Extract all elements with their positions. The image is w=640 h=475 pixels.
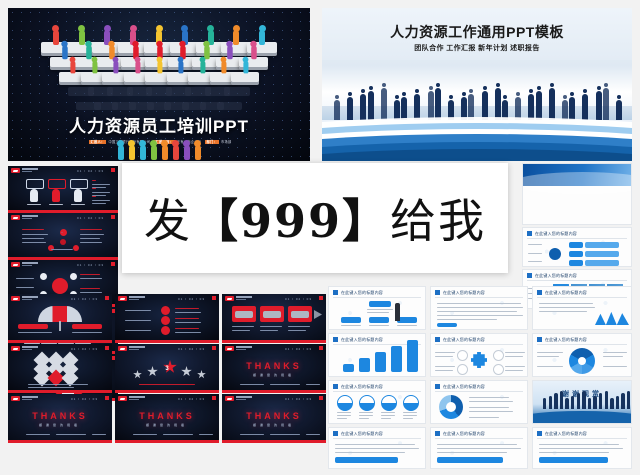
slide-header-title: 在此键入您的标题内容 bbox=[545, 290, 587, 296]
text-line bbox=[16, 287, 34, 288]
thanks-subtitle: 感谢您的观看 bbox=[8, 423, 112, 427]
thanks-title: THANKS感谢您的观看 bbox=[8, 411, 112, 427]
label-chip[interactable] bbox=[569, 242, 583, 248]
dark-slide-thumbnail[interactable]: 01 / 02 / 033 bbox=[115, 344, 219, 390]
org-node[interactable] bbox=[341, 317, 361, 323]
content-bar[interactable] bbox=[335, 457, 398, 463]
light-slide-thumbnail[interactable]: 在此键入您的标题内容 bbox=[328, 427, 426, 469]
text-line bbox=[92, 203, 106, 204]
wave-band bbox=[322, 149, 632, 161]
nav-square-icon[interactable] bbox=[105, 396, 109, 400]
header-title-line bbox=[236, 296, 252, 298]
text-line bbox=[539, 307, 595, 308]
slide-nav-indicator[interactable]: 01 / 02 / 03 bbox=[71, 397, 98, 401]
light-slide-thumbnail[interactable]: 在此键入您的标题内容 bbox=[532, 427, 632, 469]
label-pill[interactable] bbox=[18, 324, 48, 329]
content-bar[interactable] bbox=[585, 251, 619, 257]
slide-header-title: 在此键入您的标题内容 bbox=[535, 231, 577, 237]
hero-right-subtitle: 团队合作 工作汇报 新年计划 述职报告 bbox=[322, 43, 632, 53]
slide-separator-bar bbox=[8, 340, 112, 343]
hero-slide-employee-training[interactable]: 人力资源员工培训PPT 汇报人：中国工商银行股份有限公司 汇报时间：天有工商企业… bbox=[8, 8, 310, 161]
text-line bbox=[537, 356, 559, 357]
text-line bbox=[437, 319, 497, 320]
phase-inner bbox=[291, 311, 309, 318]
person-figure-icon bbox=[113, 57, 119, 74]
person-figure-icon bbox=[233, 25, 240, 45]
light-slide-thumbnail[interactable]: 谢谢观赏 bbox=[532, 380, 632, 424]
text-line bbox=[175, 322, 201, 323]
text-line bbox=[469, 411, 513, 412]
text-line bbox=[92, 184, 110, 185]
slide-nav-indicator[interactable]: 01 / 02 / 03 bbox=[71, 297, 98, 301]
slide-header-title: 在此键入您的标题内容 bbox=[341, 290, 383, 296]
dark-slide-thumbnail[interactable]: 01 / 02 / 03THANKS感谢您的观看 bbox=[222, 394, 326, 440]
slide-nav-indicator[interactable]: 01 / 02 / 03 bbox=[77, 216, 104, 220]
deck-logo-icon bbox=[11, 396, 20, 401]
text-line bbox=[92, 196, 96, 197]
slide-header: 在此键入您的标题内容 bbox=[533, 334, 631, 344]
text-line bbox=[337, 418, 347, 419]
person-silhouette bbox=[616, 396, 619, 410]
text-line bbox=[80, 278, 102, 279]
person-figure-icon bbox=[172, 140, 179, 160]
wave-band bbox=[532, 411, 632, 424]
text-line bbox=[539, 303, 593, 304]
text-line bbox=[80, 288, 100, 289]
person-silhouette bbox=[599, 393, 602, 409]
thanks-subtitle: 感谢您的观看 bbox=[115, 423, 219, 427]
text-line bbox=[56, 434, 86, 435]
deck-logo-icon bbox=[118, 296, 127, 301]
light-slide-thumbnail[interactable]: 在此键入您的标题内容 bbox=[328, 380, 426, 424]
text-line bbox=[260, 326, 282, 327]
text-line bbox=[437, 452, 507, 453]
nav-square-icon[interactable] bbox=[212, 296, 216, 300]
text-line bbox=[539, 311, 587, 312]
dark-slide-thumbnail[interactable]: 01 / 02 / 03 bbox=[8, 166, 118, 210]
text-line bbox=[539, 448, 623, 449]
promo-overlay-banner[interactable]: 发【999】给我 bbox=[122, 163, 508, 273]
text-line bbox=[537, 366, 563, 367]
slide-separator-bar bbox=[115, 390, 219, 393]
slide-separator-bar bbox=[222, 440, 326, 443]
thanks-title: THANKS感谢您的观看 bbox=[222, 411, 326, 427]
text-line bbox=[367, 309, 393, 310]
person-silhouette bbox=[593, 396, 596, 410]
accent-chip bbox=[437, 323, 457, 327]
slide-nav-indicator[interactable]: 01 / 02 / 03 bbox=[178, 347, 205, 351]
puzzle-piece bbox=[224, 87, 250, 96]
text-line bbox=[341, 325, 361, 326]
hero-left-figure-row bbox=[8, 140, 310, 161]
text-line bbox=[335, 452, 405, 453]
text-line bbox=[505, 366, 525, 367]
nav-square-icon[interactable] bbox=[111, 168, 115, 172]
umbrella-icon bbox=[38, 306, 82, 322]
org-node[interactable] bbox=[369, 317, 389, 323]
slide-header: 在此键入您的标题内容 bbox=[329, 287, 425, 297]
slide-header-title: 在此键入您的标题内容 bbox=[443, 384, 485, 390]
person-figure-icon bbox=[250, 41, 256, 59]
text-line bbox=[306, 434, 320, 435]
bar-column bbox=[407, 340, 418, 372]
slide-header-title: 在此键入您的标题内容 bbox=[341, 384, 383, 390]
bullet-square-icon bbox=[435, 337, 440, 342]
dark-slide-thumbnail[interactable]: 01 / 02 / 03 bbox=[8, 344, 112, 390]
bullet-square-icon bbox=[333, 431, 338, 436]
slide-separator-bar bbox=[222, 390, 326, 393]
slide-nav-indicator[interactable]: 01 / 02 / 03 bbox=[71, 347, 98, 351]
text-line bbox=[175, 312, 201, 313]
node-circle bbox=[457, 364, 468, 375]
header-sub-line bbox=[22, 349, 32, 350]
deck-logo-icon bbox=[11, 296, 20, 301]
nav-square-icon[interactable] bbox=[105, 296, 109, 300]
slide-separator-bar bbox=[8, 390, 112, 393]
hero-left-title: 人力资源员工培训PPT bbox=[8, 112, 310, 137]
person-silhouette bbox=[621, 393, 624, 409]
slide-header-title: 在此键入您的标题内容 bbox=[545, 431, 587, 437]
blue-header-band bbox=[523, 164, 631, 186]
text-line bbox=[469, 407, 509, 408]
slide-separator-bar bbox=[115, 440, 219, 443]
node-circle bbox=[493, 350, 504, 361]
person-figure-icon bbox=[259, 25, 266, 45]
person-figure-icon bbox=[199, 57, 205, 74]
gauge-icon bbox=[403, 395, 419, 411]
person-figure-icon bbox=[150, 140, 157, 160]
text-line bbox=[603, 366, 627, 367]
bar-column bbox=[359, 358, 370, 372]
person-figure-icon bbox=[85, 41, 91, 59]
header-sub-line bbox=[22, 299, 32, 300]
text-line bbox=[270, 434, 300, 435]
header-title-line bbox=[22, 168, 38, 170]
donut-hole bbox=[446, 402, 456, 412]
text-line bbox=[359, 415, 373, 416]
slide-header: 在此键入您的标题内容 bbox=[523, 270, 631, 280]
header-title-line bbox=[129, 296, 145, 298]
slide-header: 在此键入您的标题内容 bbox=[329, 428, 425, 438]
node-circle bbox=[73, 245, 79, 251]
slide-nav-indicator[interactable]: 01 / 02 / 03 bbox=[285, 297, 312, 301]
light-slide-thumbnail[interactable]: 在此键入您的标题内容 bbox=[430, 333, 528, 377]
light-slide-thumbnail[interactable]: 在此键入您的标题内容 bbox=[328, 333, 426, 377]
battery-icon bbox=[48, 179, 66, 189]
text-line bbox=[403, 418, 413, 419]
text-line bbox=[28, 387, 74, 388]
bullet-square-icon bbox=[333, 384, 338, 389]
text-line bbox=[528, 261, 542, 262]
text-line bbox=[16, 278, 34, 279]
text-line bbox=[163, 434, 193, 435]
header-title-line bbox=[129, 396, 145, 398]
text-line bbox=[381, 415, 395, 416]
header-divider bbox=[537, 438, 627, 439]
person-silhouette bbox=[588, 398, 591, 409]
triangle-outline bbox=[51, 232, 73, 250]
text-line bbox=[175, 308, 199, 309]
hero-right-title: 人力资源工作通用PPT模板 bbox=[322, 22, 632, 42]
text-line bbox=[270, 384, 300, 385]
text-line bbox=[175, 318, 199, 319]
light-slide-thumbnail[interactable]: 在此键入您的标题内容 bbox=[532, 333, 632, 377]
person-figure-icon bbox=[161, 140, 168, 160]
overlay-text-a: 发 bbox=[144, 194, 192, 248]
light-slide-thumbnail[interactable]: 在此键入您的标题内容 bbox=[430, 286, 528, 330]
overlay-text-b: 【999】 bbox=[192, 194, 390, 248]
text-line bbox=[72, 332, 102, 333]
text-line bbox=[288, 330, 306, 331]
slide-header-title: 在此键入您的标题内容 bbox=[443, 337, 485, 343]
header-title-line bbox=[236, 396, 252, 398]
umbrella-pole bbox=[59, 321, 61, 331]
slide-separator-bar bbox=[222, 340, 326, 343]
slide-header: 在此键入您的标题内容 bbox=[329, 381, 425, 391]
deck-logo-icon bbox=[225, 346, 234, 351]
text-line bbox=[125, 320, 151, 321]
text-line bbox=[437, 444, 517, 445]
person-silhouette bbox=[554, 393, 557, 409]
deck-logo-icon bbox=[11, 262, 20, 267]
person-silhouette bbox=[571, 396, 574, 410]
header-divider bbox=[537, 297, 627, 298]
header-sub-line bbox=[129, 399, 139, 400]
header-sub-line bbox=[236, 349, 246, 350]
slide-header: 在此键入您的标题内容 bbox=[431, 381, 527, 391]
header-divider bbox=[435, 344, 523, 345]
deck-logo-icon bbox=[225, 396, 234, 401]
text-line bbox=[381, 418, 391, 419]
text-line bbox=[240, 384, 264, 385]
text-line bbox=[603, 352, 627, 353]
person-silhouette bbox=[560, 391, 563, 410]
bullet-square-icon bbox=[435, 431, 440, 436]
text-line bbox=[22, 234, 48, 235]
text-line bbox=[537, 352, 563, 353]
nav-square-icon[interactable] bbox=[319, 346, 323, 350]
puzzle-piece bbox=[231, 72, 258, 82]
screenshot-canvas: 人力资源员工培训PPT 汇报人：中国工商银行股份有限公司 汇报时间：天有工商企业… bbox=[0, 0, 640, 475]
person-silhouette bbox=[605, 391, 608, 410]
slide-nav-indicator[interactable]: 01 / 02 / 03 bbox=[77, 169, 104, 173]
dark-slide-thumbnail[interactable]: 01 / 02 / 03 bbox=[115, 294, 219, 340]
battery-icon bbox=[26, 179, 44, 189]
person-figure-icon bbox=[194, 140, 201, 160]
slide-header: 在此键入您的标题内容 bbox=[523, 228, 631, 238]
content-bar[interactable] bbox=[585, 260, 619, 266]
text-line bbox=[175, 328, 199, 329]
text-line bbox=[403, 412, 417, 413]
nav-square-icon[interactable] bbox=[105, 346, 109, 350]
text-line bbox=[240, 434, 264, 435]
person-figure-icon bbox=[183, 140, 190, 160]
overlay-text-c: 给我 bbox=[390, 194, 486, 248]
battery-icon bbox=[70, 179, 88, 189]
dark-slide-thumbnail[interactable]: 01 / 02 / 03 bbox=[222, 294, 326, 340]
label-chip[interactable] bbox=[569, 251, 583, 257]
nav-square-icon[interactable] bbox=[319, 296, 323, 300]
person-silhouette bbox=[549, 396, 552, 410]
text-line bbox=[337, 412, 351, 413]
person-figure-icon bbox=[156, 57, 162, 74]
header-title-line bbox=[22, 296, 38, 298]
text-line bbox=[437, 311, 517, 312]
person-figure-icon bbox=[135, 57, 141, 74]
header-divider bbox=[435, 297, 523, 298]
light-slide-thumbnail[interactable]: 在此键入您的标题内容 bbox=[430, 380, 528, 424]
header-divider bbox=[435, 391, 523, 392]
person-silhouette bbox=[610, 398, 613, 409]
dark-slide-thumbnail[interactable]: 01 / 02 / 03THANKS感谢您的观看 bbox=[222, 344, 326, 390]
slide-nav-indicator[interactable]: 01 / 02 / 03 bbox=[178, 397, 205, 401]
slide-nav-indicator[interactable]: 01 / 02 / 03 bbox=[285, 347, 312, 351]
text-line bbox=[199, 434, 213, 435]
text-line bbox=[80, 238, 100, 239]
text-line bbox=[306, 384, 320, 385]
arrow-right-icon bbox=[314, 310, 322, 319]
badge-icon bbox=[161, 326, 170, 335]
org-node[interactable] bbox=[397, 317, 417, 323]
header-sub-line bbox=[22, 171, 32, 172]
text-line bbox=[26, 434, 50, 435]
text-line bbox=[335, 444, 415, 445]
text-line bbox=[505, 370, 523, 371]
thanks-title: THANKS感谢您的观看 bbox=[222, 361, 326, 377]
bullet-square-icon bbox=[527, 273, 532, 278]
person-figure-icon bbox=[221, 57, 227, 74]
dark-slide-thumbnail[interactable]: 01 / 02 / 03THANKS感谢您的观看 bbox=[115, 394, 219, 440]
label-chip[interactable] bbox=[569, 260, 583, 266]
text-line bbox=[28, 384, 88, 385]
slide-header-title: 在此键入您的标题内容 bbox=[535, 273, 577, 279]
slide-nav-indicator[interactable]: 01 / 02 / 03 bbox=[285, 397, 312, 401]
header-sub-line bbox=[22, 265, 32, 266]
text-line bbox=[528, 253, 542, 254]
text-line bbox=[435, 366, 455, 367]
text-line bbox=[359, 412, 373, 413]
light-slide-thumbnail[interactable]: 在此键入您的标题内容 bbox=[328, 286, 426, 330]
text-line bbox=[232, 326, 254, 327]
header-sub-line bbox=[22, 399, 32, 400]
node-circle bbox=[493, 364, 504, 375]
text-line bbox=[92, 434, 106, 435]
overlay-text: 发【999】给我 bbox=[144, 185, 486, 251]
dark-slide-thumbnail[interactable]: 01 / 02 / 03THANKS感谢您的观看 bbox=[8, 394, 112, 440]
slide-header: 在此键入您的标题内容 bbox=[431, 428, 527, 438]
text-line bbox=[288, 326, 310, 327]
text-line bbox=[92, 180, 96, 181]
center-number: 3 bbox=[115, 366, 219, 372]
slide-header: 在此键入您的标题内容 bbox=[533, 428, 631, 438]
org-node[interactable] bbox=[369, 301, 391, 307]
deck-logo-icon bbox=[118, 396, 127, 401]
light-slide-thumbnail[interactable]: 在此键入您的标题内容 bbox=[522, 227, 632, 267]
slide-header: 在此键入您的标题内容 bbox=[431, 287, 527, 297]
content-bar[interactable] bbox=[539, 457, 608, 463]
text-line bbox=[27, 204, 41, 205]
nav-square-icon[interactable] bbox=[212, 346, 216, 350]
header-divider bbox=[537, 344, 627, 345]
dark-slide-thumbnail[interactable]: 01 / 02 / 03 bbox=[8, 213, 118, 257]
person-figure-icon bbox=[117, 140, 124, 160]
text-line bbox=[175, 332, 201, 333]
slide-nav-indicator[interactable]: 01 / 02 / 03 bbox=[178, 297, 205, 301]
text-line bbox=[22, 229, 44, 230]
header-title-line bbox=[129, 346, 145, 348]
slide-header: 在此键入您的标题内容 bbox=[431, 334, 527, 344]
header-title-line bbox=[22, 346, 38, 348]
thanks-subtitle: 感谢您的观看 bbox=[222, 423, 326, 427]
nav-square-icon[interactable] bbox=[111, 215, 115, 219]
text-line bbox=[359, 418, 369, 419]
person-figure-icon bbox=[78, 25, 85, 45]
slide-separator-bar bbox=[8, 440, 112, 443]
slide-nav-indicator[interactable]: 01 / 02 / 03 bbox=[77, 263, 104, 267]
text-line bbox=[505, 356, 523, 357]
text-line bbox=[71, 204, 85, 205]
deck-logo-icon bbox=[11, 346, 20, 351]
header-divider bbox=[333, 391, 421, 392]
bullet-square-icon bbox=[537, 290, 542, 295]
light-slide-thumbnail[interactable]: 在此键入您的标题内容 bbox=[532, 286, 632, 330]
person-figure-icon bbox=[139, 140, 146, 160]
text-line bbox=[437, 448, 521, 449]
text-line bbox=[435, 352, 455, 353]
label-pill[interactable] bbox=[72, 324, 102, 329]
phase-inner bbox=[263, 311, 281, 318]
bar-column bbox=[375, 352, 386, 372]
slide-header-title: 在此键入您的标题内容 bbox=[443, 290, 485, 296]
text-line bbox=[22, 238, 44, 239]
header-title-line bbox=[236, 346, 252, 348]
person-figure-icon bbox=[74, 189, 82, 202]
hub-circle bbox=[549, 248, 561, 260]
text-line bbox=[369, 325, 389, 326]
person-silhouette bbox=[577, 393, 580, 409]
header-title-line bbox=[22, 215, 38, 217]
text-line bbox=[80, 229, 102, 230]
slide-header-title: 在此键入您的标题内容 bbox=[341, 431, 383, 437]
gauge-icon bbox=[359, 395, 375, 411]
nav-square-icon[interactable] bbox=[319, 396, 323, 400]
light-slide-cover[interactable] bbox=[522, 163, 632, 225]
header-divider bbox=[333, 297, 421, 298]
content-bar[interactable] bbox=[585, 242, 619, 248]
bullet-square-icon bbox=[527, 231, 532, 236]
text-line bbox=[92, 188, 96, 189]
text-line bbox=[381, 412, 395, 413]
slide-header-title: 在此键入您的标题内容 bbox=[443, 431, 485, 437]
content-bar[interactable] bbox=[437, 457, 503, 463]
slide-separator-bar bbox=[115, 340, 219, 343]
text-line bbox=[139, 384, 195, 385]
lightbulb-hub-icon bbox=[52, 278, 68, 294]
text-line bbox=[603, 356, 623, 357]
text-line bbox=[469, 401, 513, 402]
hero-slide-hr-template[interactable]: 人力资源工作通用PPT模板 团队合作 工作汇报 新年计划 述职报告 bbox=[322, 8, 632, 161]
header-divider bbox=[527, 280, 627, 281]
nav-square-icon[interactable] bbox=[212, 396, 216, 400]
text-line bbox=[80, 234, 104, 235]
text-line bbox=[125, 330, 151, 331]
dark-slide-thumbnail[interactable]: 01 / 02 / 03 bbox=[8, 294, 112, 340]
person-silhouette bbox=[582, 391, 585, 410]
text-line bbox=[125, 310, 151, 311]
nav-square-icon[interactable] bbox=[111, 262, 115, 266]
bullet-square-icon bbox=[537, 337, 542, 342]
light-slide-thumbnail[interactable]: 在此键入您的标题内容 bbox=[430, 427, 528, 469]
